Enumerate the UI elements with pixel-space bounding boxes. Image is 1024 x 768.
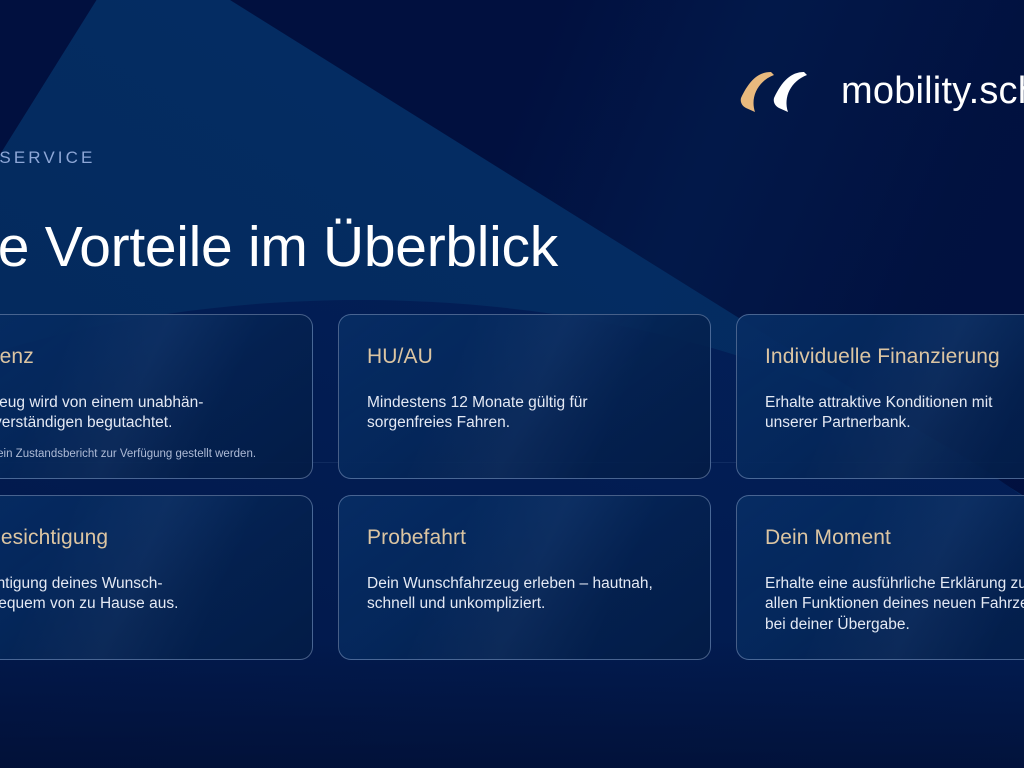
benefit-card-title: Individuelle Finanzierung	[765, 345, 1024, 369]
benefit-card-title: Probefahrt	[367, 526, 682, 550]
benefit-card-title: HU/AU	[367, 345, 682, 369]
mobility-swoosh-icon	[735, 72, 815, 112]
benefit-card[interactable]: Probefahrt Dein Wunschfahrzeug erleben –…	[338, 495, 711, 660]
section-eyebrow: UM-SERVICE	[0, 148, 95, 168]
benefit-card[interactable]: Dein Moment Erhalte eine ausführliche Er…	[736, 495, 1024, 660]
benefit-card-body: Dein Wunschfahrzeug erleben – hautnah, s…	[367, 574, 682, 615]
benefit-card[interactable]: HU/AU Mindestens 12 Monate gültig für so…	[338, 314, 711, 479]
benefit-card[interactable]: e Besichtigung esichtigung deines Wunsch…	[0, 495, 313, 660]
benefit-card-body: Mindestens 12 Monate gültig für sorgenfr…	[367, 393, 682, 434]
page-canvas: mobility.sch UM-SERVICE ine Vorteile im …	[0, 0, 1024, 768]
benefit-card[interactable]: parenz ahrzeug wird von einem unabhän- a…	[0, 314, 313, 479]
benefit-card-title: parenz	[0, 345, 284, 369]
benefit-card-body: esichtigung deines Wunsch- gs bequem von…	[0, 574, 284, 615]
benefit-card-body: Erhalte attraktive Konditionen mit unser…	[765, 393, 1024, 434]
benefit-card-note: kann ein Zustandsbericht zur Verfügung g…	[0, 447, 284, 462]
benefit-card-title: e Besichtigung	[0, 526, 284, 550]
benefit-card-body: ahrzeug wird von einem unabhän- achverst…	[0, 393, 284, 434]
page-title: ine Vorteile im Überblick	[0, 214, 558, 281]
brand-wordmark: mobility.sch	[841, 70, 1024, 113]
benefit-card-title: Dein Moment	[765, 526, 1024, 550]
benefit-card-body: Erhalte eine ausführliche Erklärung zu a…	[765, 574, 1024, 635]
benefit-card[interactable]: Individuelle Finanzierung Erhalte attrak…	[736, 314, 1024, 479]
brand-logo[interactable]: mobility.sch	[735, 70, 1024, 113]
benefit-card-grid: parenz ahrzeug wird von einem unabhän- a…	[0, 314, 1024, 660]
